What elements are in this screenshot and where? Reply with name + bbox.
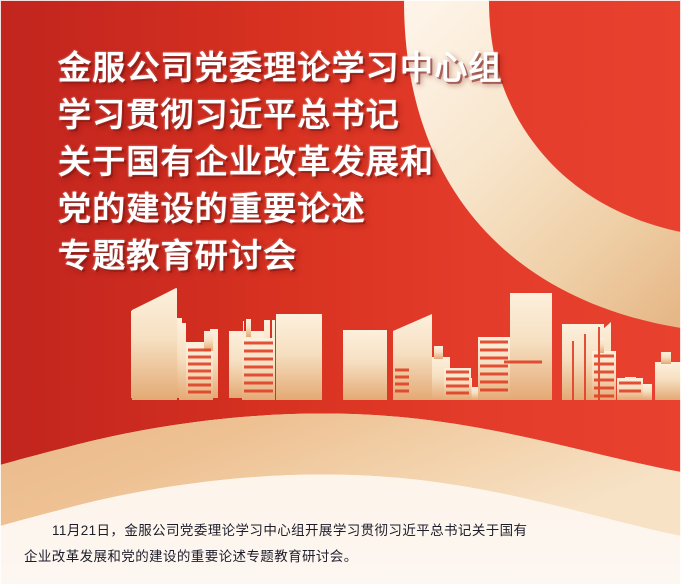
title-line-1: 金服公司党委理论学习中心组 [58, 44, 618, 91]
caption-line-2: 企业改革发展和党的建设的重要论述专题教育研讨会。 [24, 544, 659, 570]
city-skyline-buildings-right [393, 293, 681, 400]
caption-line-1: 11月21日，金服公司党委理论学习中心组开展学习贯彻习近平总书记关于国有 [24, 518, 659, 544]
city-skyline-buildings [132, 288, 652, 400]
title-line-3: 关于国有企业改革发展和 [58, 138, 618, 185]
title-line-5: 专题教育研讨会 [58, 232, 618, 279]
title-line-4: 党的建设的重要论述 [58, 185, 618, 232]
title-line-2: 学习贯彻习近平总书记 [58, 91, 618, 138]
building-window-stripes [188, 327, 641, 400]
caption-block: 11月21日，金服公司党委理论学习中心组开展学习贯彻习近平总书记关于国有 企业改… [0, 518, 681, 570]
poster-canvas: 金服公司党委理论学习中心组 学习贯彻习近平总书记 关于国有企业改革发展和 党的建… [0, 0, 681, 585]
city-skyline-silhouette [131, 288, 275, 398]
page-title: 金服公司党委理论学习中心组 学习贯彻习近平总书记 关于国有企业改革发展和 党的建… [58, 44, 618, 279]
